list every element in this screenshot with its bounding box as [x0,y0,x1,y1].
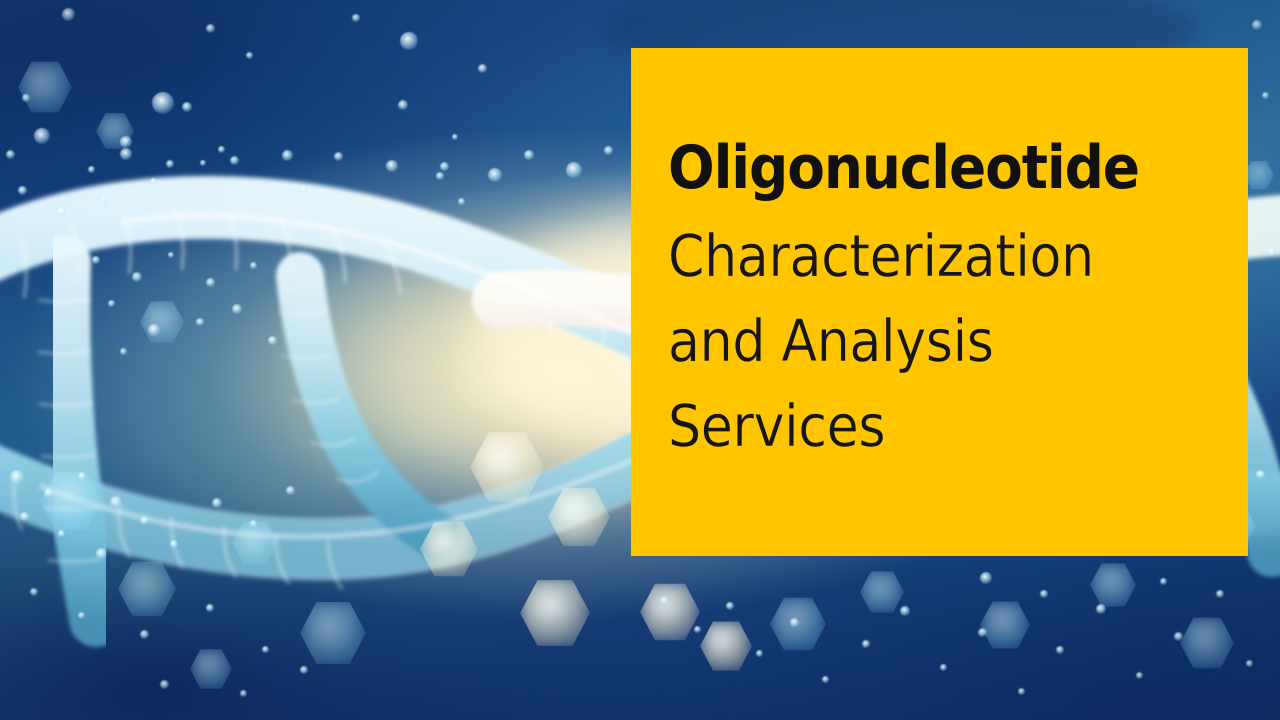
subtitle-line-3: Services [668,384,1172,469]
title-text-block: Oligonucleotide Characterization and Ana… [668,132,1228,469]
hero-banner: Oligonucleotide Characterization and Ana… [0,0,1280,720]
title-panel: Oligonucleotide Characterization and Ana… [631,48,1248,556]
page-title: Oligonucleotide [668,132,1180,204]
subtitle-line-1: Characterization [668,214,1172,299]
subtitle-line-2: and Analysis [668,299,1172,384]
